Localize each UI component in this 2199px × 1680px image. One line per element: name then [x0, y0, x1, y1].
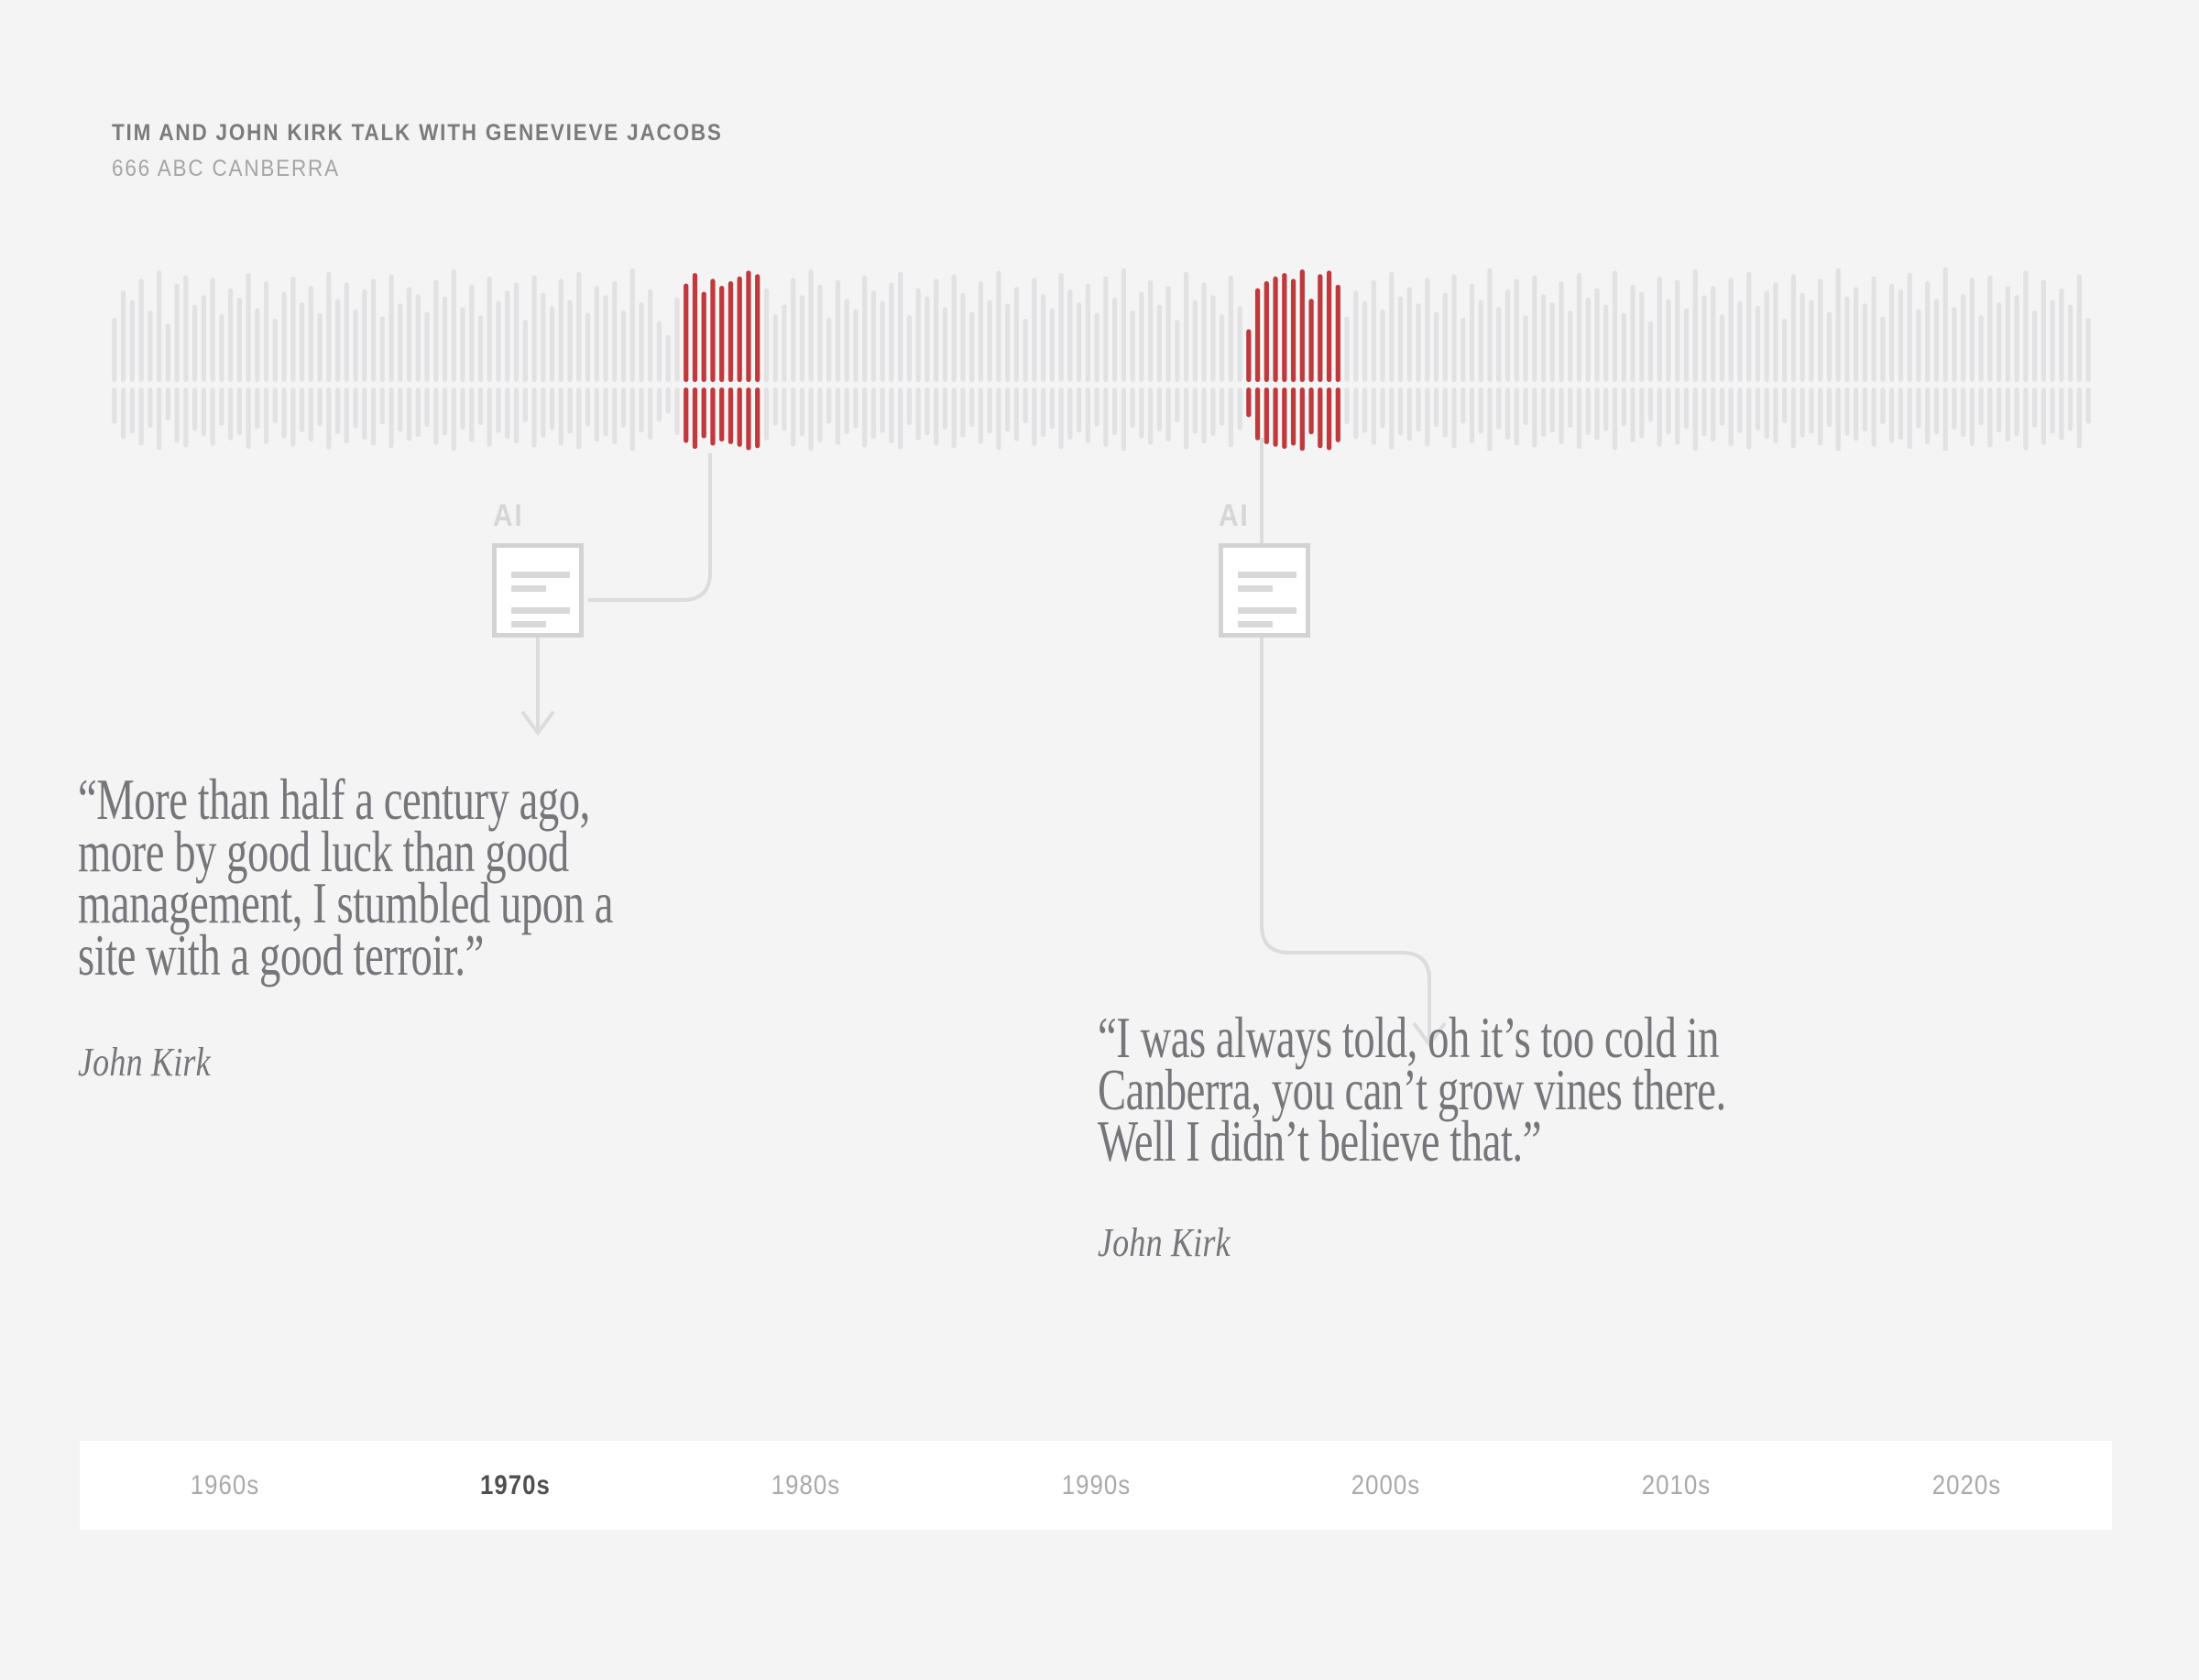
timeline-decade-2000s[interactable]: 2000s [1262, 1470, 1511, 1501]
arrow-head-icon-1 [522, 712, 553, 733]
waveform-bar [1041, 294, 1045, 382]
waveform-bar [916, 387, 921, 441]
waveform-bar-highlighted [1264, 281, 1269, 382]
waveform-bar [2059, 387, 2063, 441]
waveform-bar [407, 387, 411, 441]
waveform-bar-highlighted [1282, 273, 1286, 382]
waveform-bar [881, 301, 885, 382]
waveform-bar [639, 387, 643, 432]
waveform-bar [1916, 387, 1920, 429]
waveform-bar [1827, 387, 1832, 427]
waveform-bar-highlighted [719, 387, 724, 442]
waveform-bar [1684, 387, 1689, 429]
waveform-bar [979, 387, 983, 444]
waveform-bar [1800, 293, 1805, 382]
waveform-bar [1979, 387, 1984, 425]
waveform-bar [1987, 387, 1992, 448]
waveform-bar [1407, 287, 1412, 382]
waveform-bar-highlighted [719, 286, 724, 382]
waveform-bar [300, 387, 304, 432]
waveform-bar [1434, 387, 1439, 427]
waveform-bar [1782, 319, 1787, 382]
waveform-bar [881, 387, 885, 433]
waveform-bar [1952, 307, 1956, 382]
decade-timeline[interactable]: 1960s1970s1980s1990s2000s2010s2020s [80, 1441, 2112, 1530]
waveform-bar [1112, 387, 1117, 435]
waveform-bar [1407, 387, 1412, 441]
waveform-bar [1229, 387, 1233, 448]
waveform-bar [362, 387, 366, 440]
waveform-bar-highlighted [1273, 387, 1277, 447]
waveform-bar [800, 387, 804, 436]
document-icon-2[interactable] [1219, 543, 1310, 638]
waveform-bar [782, 305, 786, 382]
waveform-bar [1130, 387, 1134, 428]
waveform-bar [1934, 387, 1939, 434]
waveform-bar [1389, 387, 1394, 450]
waveform-bar [2023, 387, 2028, 450]
quote-attribution-2: John Kirk [1098, 1219, 1939, 1266]
waveform-bar [148, 387, 152, 428]
waveform-bar [2006, 387, 2010, 442]
ai-badge-1: AI [493, 498, 523, 534]
waveform-bar [478, 387, 483, 425]
waveform-bar [1229, 276, 1233, 382]
waveform-bar [960, 387, 965, 438]
waveform-bar [1523, 387, 1527, 425]
waveform-bar [1925, 387, 1930, 444]
waveform-bar [1568, 387, 1572, 428]
waveform-bar [943, 307, 947, 382]
waveform-bar [1756, 306, 1760, 382]
waveform-bar [1765, 387, 1769, 439]
waveform-bar [996, 387, 1001, 450]
waveform-bar [657, 321, 662, 382]
waveform-bar [836, 280, 840, 382]
waveform-bar [1237, 306, 1242, 382]
waveform-bar-highlighted [1264, 387, 1269, 444]
waveform-bar-highlighted [1318, 387, 1322, 448]
waveform-bar [443, 297, 447, 382]
waveform-bar [353, 310, 357, 382]
waveform-bar [809, 387, 814, 451]
waveform-bar [192, 305, 197, 382]
waveform-bar [1880, 387, 1885, 424]
waveform-bar [934, 278, 938, 382]
waveform-bar [1827, 311, 1832, 382]
waveform-bar [2032, 387, 2037, 428]
waveform-bar [1362, 387, 1367, 433]
waveform-bars[interactable] [110, 253, 2093, 451]
waveform-bar [559, 387, 563, 445]
waveform-bar [317, 387, 322, 426]
waveform-bar [1684, 308, 1689, 382]
waveform-bar [2006, 286, 2010, 382]
waveform-bar [1675, 280, 1679, 382]
waveform-bar [1961, 387, 1965, 437]
waveform-bar [773, 387, 778, 426]
waveform-bar [1577, 387, 1581, 449]
waveform-bar [1666, 387, 1670, 434]
waveform-bar [300, 302, 304, 382]
waveform-bar [1103, 277, 1108, 382]
waveform-bar [264, 281, 268, 382]
waveform-bar [407, 287, 411, 382]
waveform-bar [1398, 387, 1403, 436]
timeline-decade-1980s[interactable]: 1980s [681, 1470, 930, 1501]
waveform-bar [934, 387, 938, 445]
waveform-bar [1086, 283, 1090, 382]
waveform-bar [924, 387, 929, 436]
waveform-bar [1648, 387, 1653, 421]
waveform-bar [1765, 290, 1769, 382]
waveform-bar-highlighted [710, 387, 715, 445]
waveform-bar [1898, 289, 1903, 382]
waveform-bar [210, 387, 214, 446]
waveform-bar [1889, 387, 1894, 442]
waveform-bar-highlighted [1255, 387, 1260, 441]
waveform-bar [1613, 270, 1617, 382]
waveform-bar [1711, 286, 1715, 382]
waveform-bar [460, 307, 465, 382]
waveform-bar [952, 274, 957, 382]
waveform-bar [2068, 305, 2073, 382]
waveform-bar [1711, 387, 1715, 442]
waveform-bar-highlighted [1246, 387, 1251, 417]
waveform-bar [648, 387, 652, 440]
quote-card-2: “I was always told, oh it’s too cold in … [1098, 1012, 2124, 1266]
waveform-bar [782, 387, 786, 431]
waveform-bar [1908, 273, 1912, 382]
waveform-bar-highlighted [755, 387, 760, 448]
waveform-bar-highlighted [1336, 387, 1340, 442]
waveform-bar [138, 387, 143, 445]
page-title: TIM AND JOHN KIRK TALK WITH GENEVIEVE JA… [112, 120, 723, 146]
waveform-bar [1818, 387, 1822, 445]
waveform-bar [380, 387, 385, 424]
waveform-bar [1086, 387, 1090, 442]
page-root: TIM AND JOHN KIRK TALK WITH GENEVIEVE JA… [0, 0, 2199, 1680]
waveform-bar [496, 387, 500, 433]
waveform-bar [1059, 387, 1064, 449]
waveform-bar [567, 300, 572, 382]
waveform-bar-highlighted [1300, 387, 1305, 451]
waveform-bar [433, 387, 438, 445]
timeline-decade-1960s[interactable]: 1960s [100, 1470, 349, 1501]
waveform-bar [1746, 272, 1751, 382]
waveform-bar [353, 387, 357, 429]
waveform-bar [345, 282, 349, 382]
waveform-bar [326, 387, 331, 450]
waveform-bar [1353, 387, 1358, 439]
waveform-bar [1541, 387, 1546, 437]
waveform-bar [1425, 278, 1429, 382]
waveform-bar [1077, 302, 1081, 382]
waveform-bar [916, 289, 921, 382]
doc-line [1238, 607, 1296, 614]
waveform-bar-highlighted [1273, 277, 1277, 382]
waveform-bar [2077, 387, 2082, 448]
waveform-bar [183, 387, 188, 448]
waveform-bar [1050, 387, 1055, 429]
waveform-bar [1210, 387, 1215, 436]
waveform-bar [1997, 387, 2001, 432]
timeline-decade-1970s[interactable]: 1970s [390, 1470, 640, 1501]
waveform-bar [1622, 387, 1626, 426]
waveform-bar [1139, 387, 1143, 438]
waveform-bar [2041, 280, 2046, 382]
waveform-bar [764, 289, 769, 382]
waveform-bar [1737, 387, 1742, 433]
waveform-bar [1165, 387, 1170, 442]
waveform-bar [979, 281, 983, 382]
waveform-bar [1844, 387, 1849, 436]
waveform-bar [130, 300, 135, 382]
waveform-bar [1479, 300, 1483, 382]
waveform-bar [1657, 277, 1662, 382]
waveform-bar [523, 387, 528, 422]
waveform-bar [1791, 387, 1796, 448]
waveform-bar [1416, 387, 1420, 431]
waveform-bar [1112, 298, 1117, 382]
waveform-bar [621, 387, 626, 428]
waveform-bar [1559, 387, 1563, 444]
waveform-bar [1908, 387, 1912, 449]
waveform-bar [219, 314, 224, 382]
waveform-bar [424, 311, 429, 382]
waveform-bar [889, 282, 893, 382]
waveform-bar [1916, 310, 1920, 382]
waveform-bar [1952, 387, 1956, 430]
waveform-bar [1032, 278, 1036, 382]
waveform-bar [148, 311, 152, 382]
waveform-bar [1639, 387, 1644, 438]
waveform-bar [1577, 273, 1581, 382]
waveform-bar [326, 272, 331, 382]
waveform-bar [576, 272, 581, 382]
waveform-bar [1943, 387, 1948, 451]
waveform-bar [1148, 280, 1153, 382]
waveform-bar [889, 387, 893, 443]
waveform-bar [362, 289, 366, 382]
timeline-decade-1990s[interactable]: 1990s [971, 1470, 1220, 1501]
waveform-bar [531, 276, 536, 382]
waveform-bar [281, 387, 286, 438]
waveform-bar [1014, 387, 1019, 441]
waveform-bar [943, 387, 947, 430]
waveform-bar [237, 298, 242, 382]
doc-line [1238, 585, 1273, 592]
waveform-bar [2085, 318, 2090, 382]
waveform-bar [1148, 387, 1153, 445]
waveform-bar [1630, 285, 1635, 382]
waveform-bar [388, 387, 393, 448]
waveform-bar [576, 387, 581, 450]
waveform-bar [1630, 387, 1635, 442]
doc-line [511, 621, 546, 627]
waveform-bar [1720, 314, 1724, 382]
waveform-bar [1979, 315, 1984, 382]
waveform-bar [2068, 387, 2073, 431]
waveform-bar [398, 387, 402, 431]
waveform-bar [1515, 278, 1519, 382]
timeline-decade-2010s[interactable]: 2010s [1551, 1470, 1800, 1501]
waveform-bar [1041, 387, 1045, 437]
waveform-bar [826, 387, 831, 424]
waveform-bar [166, 323, 170, 382]
waveform-bar [585, 312, 590, 382]
waveform-bar [2032, 311, 2037, 382]
waveform-bar [541, 387, 545, 438]
waveform-bar [1487, 268, 1492, 382]
waveform-bar [1443, 293, 1448, 382]
waveform-bar [1470, 387, 1474, 442]
waveform-bar [1872, 277, 1876, 382]
waveform-bar [1193, 387, 1198, 433]
waveform-bar [1800, 387, 1805, 438]
waveform-bar [1005, 387, 1010, 431]
waveform-bar [559, 278, 563, 382]
waveform-bar [1451, 387, 1456, 448]
waveform-bar [219, 387, 224, 426]
waveform-bar [674, 387, 679, 435]
waveform-bar [166, 387, 170, 420]
waveform-bar [1729, 278, 1734, 382]
waveform-bar [228, 289, 233, 382]
waveform-bar [871, 387, 876, 439]
doc-line [1238, 621, 1273, 627]
waveform-bar [202, 295, 206, 382]
waveform-bar [1756, 387, 1760, 431]
waveform-bar [460, 387, 465, 430]
waveform-bar [1693, 269, 1698, 382]
waveform-bar [862, 387, 867, 448]
waveform-bar [666, 387, 671, 414]
waveform-bar [541, 293, 545, 382]
waveform-bar [1487, 387, 1492, 451]
waveform-bar [335, 299, 340, 382]
waveform-bar [907, 387, 912, 425]
document-icon-1[interactable] [492, 543, 584, 638]
audio-waveform[interactable] [110, 253, 2093, 451]
waveform-bar [898, 387, 903, 450]
waveform-bar [871, 290, 876, 382]
waveform-bar [1175, 387, 1179, 422]
waveform-bar [1362, 301, 1367, 382]
waveform-bar [1987, 276, 1992, 382]
waveform-bar [290, 387, 295, 447]
waveform-bar [1220, 314, 1224, 382]
waveform-bar [335, 387, 340, 434]
waveform-bar [469, 285, 474, 382]
waveform-bar [1434, 311, 1439, 382]
waveform-bar [130, 387, 135, 433]
waveform-bar [1746, 387, 1751, 450]
waveform-bar [791, 387, 795, 446]
waveform-bar [416, 387, 421, 437]
waveform-bar [1594, 387, 1599, 441]
waveform-bar [1613, 387, 1617, 450]
quote-text-2: “I was always told, oh it’s too cold in … [1098, 1012, 2123, 1168]
waveform-bar [174, 387, 179, 442]
waveform-bar [523, 320, 528, 382]
waveform-bar [1568, 311, 1572, 382]
waveform-bar [621, 311, 626, 382]
waveform-bar [1184, 272, 1188, 382]
waveform-bar-highlighted [1246, 329, 1251, 382]
waveform-bar [1121, 387, 1126, 451]
waveform-bar-highlighted [1327, 270, 1331, 382]
waveform-bar [1201, 387, 1206, 443]
timeline-decade-2020s[interactable]: 2020s [1842, 1470, 2091, 1501]
waveform-bar-highlighted [755, 274, 760, 382]
waveform-bar [514, 387, 519, 443]
waveform-bar [666, 335, 671, 382]
waveform-bar [969, 311, 974, 382]
waveform-bar [1844, 297, 1849, 382]
waveform-bar-highlighted [1300, 269, 1305, 382]
waveform-bar [1130, 311, 1134, 382]
waveform-bar [2015, 295, 2019, 382]
waveform-bar [1594, 289, 1599, 382]
waveform-bar [1863, 303, 1867, 382]
waveform-bar [264, 387, 268, 444]
waveform-bar [273, 387, 278, 423]
waveform-bar [1773, 282, 1778, 382]
doc-line [511, 607, 570, 614]
waveform-bar [2051, 300, 2055, 382]
waveform-bar [1470, 283, 1474, 382]
waveform-bar [845, 387, 849, 434]
waveform-bar [157, 270, 161, 382]
waveform-bar-highlighted [693, 273, 697, 382]
waveform-bar [1657, 387, 1662, 447]
waveform-bar [281, 291, 286, 382]
waveform-bar [255, 387, 259, 429]
waveform-bar [1496, 307, 1501, 382]
waveform-bar-highlighted [728, 387, 733, 444]
waveform-bar [988, 300, 992, 382]
waveform-bar [1782, 387, 1787, 423]
waveform-bar [1505, 289, 1510, 382]
waveform-bar [1201, 282, 1206, 382]
waveform-bar [630, 268, 635, 382]
waveform-bar-highlighted [1291, 278, 1296, 382]
waveform-bar [845, 299, 849, 382]
waveform-bar [1389, 272, 1394, 382]
waveform-bar [443, 387, 447, 436]
waveform-bar [853, 310, 858, 382]
waveform-bar [1139, 291, 1143, 382]
waveform-bar [452, 269, 456, 382]
waveform-bar [2023, 270, 2028, 382]
waveform-bar [1729, 387, 1734, 446]
waveform-bar [1461, 318, 1465, 382]
waveform-bar [202, 387, 206, 436]
waveform-bar [174, 283, 179, 382]
waveform-bar [1157, 387, 1162, 431]
waveform-bar [1701, 387, 1706, 436]
waveform-bar [505, 387, 509, 439]
waveform-bar [1818, 278, 1822, 382]
waveform-bar [309, 286, 313, 382]
waveform-bar [273, 319, 278, 382]
waveform-bar [550, 306, 554, 382]
waveform-bar [1237, 387, 1242, 431]
doc-line [511, 585, 546, 592]
waveform-bar [121, 290, 126, 382]
waveform-bar [1067, 289, 1072, 382]
